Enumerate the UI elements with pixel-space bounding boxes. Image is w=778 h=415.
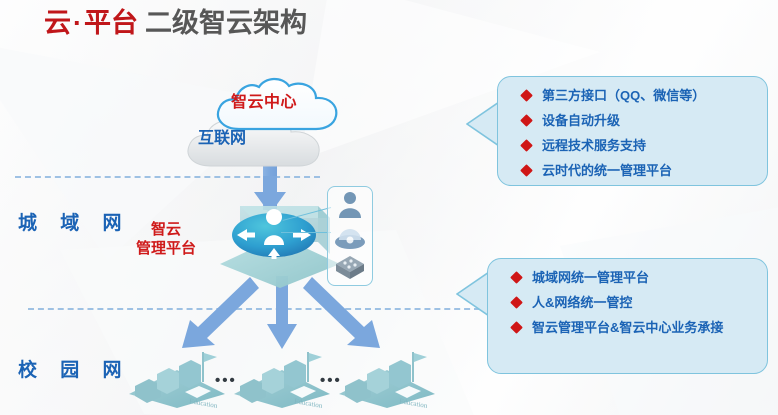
campus-caption: Education — [294, 397, 324, 410]
list-item-label: 远程技术服务支持 — [542, 138, 646, 153]
server-icon — [334, 252, 366, 282]
campus-building-icon: Education — [232, 344, 332, 410]
diamond-bullet-icon — [510, 321, 523, 334]
campus-ellipsis: ••• — [215, 376, 237, 386]
campus-building-icon: Education — [337, 344, 437, 410]
list-item: 城域网统一管理平台 — [512, 270, 767, 286]
diamond-bullet-icon — [520, 114, 533, 127]
page-title: 云·平台二级智云架构 — [44, 6, 307, 40]
smart-center-cloud-label: 智云中心 — [231, 88, 297, 112]
campus-caption: Education — [399, 397, 429, 410]
callout-bottom-list: 城域网统一管理平台 人&网络统一管控 智云管理平台&智云中心业务承接 — [488, 259, 767, 336]
callout-top: 第三方接口（QQ、微信等） 设备自动升级 远程技术服务支持 云时代的统一管理平台 — [497, 76, 768, 186]
platform-label-line2: 管理平台 — [136, 240, 196, 257]
internet-cloud-label: 互联网 — [198, 124, 246, 148]
person-icon — [334, 190, 366, 220]
panel-leader-line — [281, 232, 331, 233]
list-item: 第三方接口（QQ、微信等） — [522, 88, 767, 104]
platform-label: 智云 管理平台 — [128, 220, 204, 258]
list-item-label: 设备自动升级 — [542, 113, 620, 128]
zone-label-metro: 城 域 网 — [18, 208, 131, 235]
list-item: 人&网络统一管控 — [512, 295, 767, 311]
platform-label-line1: 智云 — [151, 221, 181, 238]
zone-label-campus: 校 园 网 — [18, 355, 131, 382]
list-item-label: 云时代的统一管理平台 — [542, 163, 672, 178]
list-item-label: 第三方接口（QQ、微信等） — [542, 88, 705, 103]
list-item-label: 智云管理平台&智云中心业务承接 — [532, 320, 723, 335]
callout-top-list: 第三方接口（QQ、微信等） 设备自动升级 远程技术服务支持 云时代的统一管理平台 — [498, 77, 767, 179]
title-separator-dot: · — [71, 8, 84, 38]
cloud-dome-icon — [334, 221, 366, 251]
campus-building-icon: Education — [127, 344, 227, 410]
managed-entities-panel — [327, 186, 373, 286]
list-item-label: 人&网络统一管控 — [532, 295, 632, 310]
list-item: 设备自动升级 — [522, 113, 767, 129]
callout-bottom: 城域网统一管理平台 人&网络统一管控 智云管理平台&智云中心业务承接 — [487, 258, 768, 374]
list-item: 云时代的统一管理平台 — [522, 163, 767, 179]
slide-canvas: 云·平台二级智云架构 城 域 网 校 园 网 — [0, 0, 778, 415]
diamond-bullet-icon — [510, 271, 523, 284]
list-item-label: 城域网统一管理平台 — [532, 270, 649, 285]
title-brand-part1: 云 — [44, 8, 71, 38]
list-item: 智云管理平台&智云中心业务承接 — [512, 320, 767, 336]
campus-caption: Education — [189, 397, 219, 410]
diamond-bullet-icon — [520, 139, 533, 152]
campus-ellipsis: ••• — [320, 376, 342, 386]
diamond-bullet-icon — [510, 296, 523, 309]
title-subtitle: 二级智云架构 — [138, 8, 307, 38]
title-brand-part2: 平台 — [84, 8, 138, 38]
diamond-bullet-icon — [520, 89, 533, 102]
list-item: 远程技术服务支持 — [522, 138, 767, 154]
diamond-bullet-icon — [520, 164, 533, 177]
